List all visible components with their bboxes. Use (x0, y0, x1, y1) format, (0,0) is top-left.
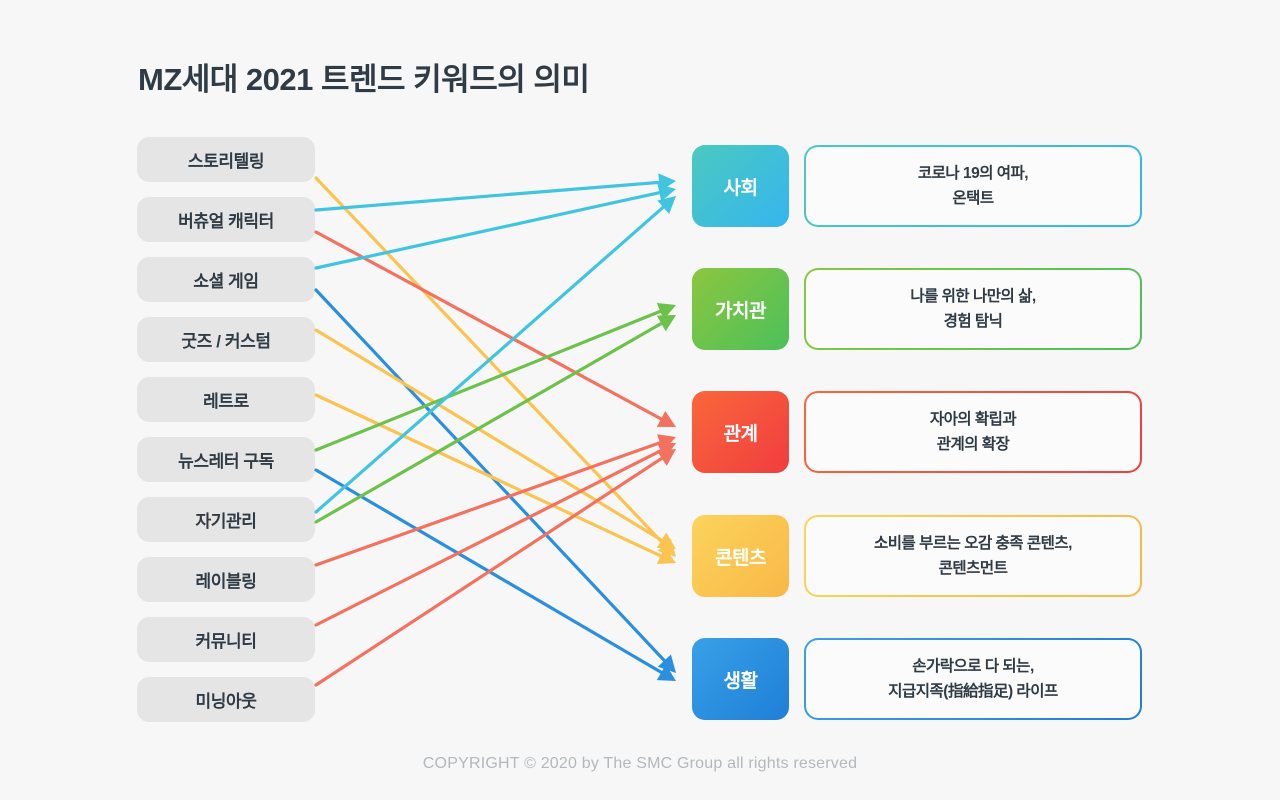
category-description-box: 자아의 확립과관계의 확장 (804, 391, 1142, 473)
keyword-label: 소셜 게임 (193, 267, 258, 292)
category-description-inner: 소비를 부르는 오감 충족 콘텐츠,콘텐츠먼트 (806, 517, 1140, 595)
keyword-label: 뉴스레터 구독 (178, 447, 274, 472)
infographic-canvas: MZ세대 2021 트렌드 키워드의 의미 스토리텔링버츄얼 캐릭터소셜 게임굿… (0, 0, 1280, 800)
keyword-pill[interactable]: 자기관리 (137, 497, 315, 542)
connector-line (316, 232, 661, 419)
connector-arrowhead (658, 173, 676, 191)
category-description-box: 소비를 부르는 오감 충족 콘텐츠,콘텐츠먼트 (804, 515, 1142, 597)
category-chip-label: 생활 (724, 666, 758, 693)
category-description-line: 손가락으로 다 되는, (912, 654, 1034, 679)
category-chip[interactable]: 가치관 (692, 268, 789, 350)
keyword-pill[interactable]: 레이블링 (137, 557, 315, 602)
category-description-line: 코로나 19의 여파, (918, 161, 1028, 186)
connector-line (316, 395, 661, 556)
connector-line (316, 323, 661, 522)
keyword-pill[interactable]: 스토리텔링 (137, 137, 315, 182)
category-description-line: 지급지족(指給指足) 라이프 (888, 679, 1057, 704)
connector-arrowhead (657, 665, 676, 681)
connector-arrowhead (657, 434, 676, 451)
category-chip-label: 가치관 (715, 296, 766, 323)
keyword-pill[interactable]: 레트로 (137, 377, 315, 422)
keyword-label: 굿즈 / 커스텀 (181, 327, 270, 352)
connector-arrowhead (657, 443, 676, 459)
connector-arrowhead (658, 538, 676, 557)
category-description-box: 손가락으로 다 되는,지급지족(指給指足) 라이프 (804, 638, 1142, 720)
keyword-label: 커뮤니티 (196, 627, 257, 652)
category-chip-label: 사회 (724, 173, 758, 200)
keyword-label: 버츄얼 캐릭터 (178, 207, 274, 232)
connector-line (316, 193, 659, 268)
category-description-line: 관계의 확장 (937, 432, 1010, 457)
category-chip[interactable]: 사회 (692, 145, 789, 227)
category-chip[interactable]: 콘텐츠 (692, 515, 789, 597)
connector-arrowhead (657, 449, 676, 466)
category-description-line: 소비를 부르는 오감 충족 콘텐츠, (874, 531, 1072, 556)
connector-arrowhead (657, 303, 676, 320)
keyword-pill[interactable]: 커뮤니티 (137, 617, 315, 662)
connector-line (316, 290, 664, 661)
connector-line (316, 451, 661, 625)
connector-line (316, 207, 663, 512)
keyword-pill[interactable]: 소셜 게임 (137, 257, 315, 302)
connector-arrowhead (657, 196, 676, 214)
connector-line (316, 311, 660, 450)
keyword-label: 미닝아웃 (196, 687, 257, 712)
keyword-pill[interactable]: 굿즈 / 커스텀 (137, 317, 315, 362)
connector-arrowhead (657, 184, 676, 202)
copyright-footer: COPYRIGHT © 2020 by The SMC Group all ri… (0, 755, 1280, 773)
category-chip[interactable]: 생활 (692, 638, 789, 720)
category-description-box: 나를 위한 나만의 삶,경험 탐닉 (804, 268, 1142, 350)
category-description-inner: 손가락으로 다 되는,지급지족(指給指足) 라이프 (806, 640, 1140, 718)
category-description-line: 나를 위한 나만의 삶, (910, 284, 1035, 309)
connector-arrowhead (657, 315, 676, 331)
connector-line (316, 443, 660, 565)
keyword-label: 레이블링 (196, 567, 257, 592)
category-description-line: 경험 탐닉 (944, 309, 1003, 334)
category-chip-label: 관계 (724, 419, 758, 446)
connector-line (316, 458, 662, 685)
category-description-box: 코로나 19의 여파,온택트 (804, 145, 1142, 227)
keyword-pill[interactable]: 뉴스레터 구독 (137, 437, 315, 482)
keyword-label: 자기관리 (196, 507, 257, 532)
category-description-line: 자아의 확립과 (930, 407, 1016, 432)
connector-arrowhead (657, 532, 676, 549)
category-chip[interactable]: 관계 (692, 391, 789, 473)
connector-line (316, 178, 664, 545)
connector-line (316, 330, 661, 540)
category-description-inner: 나를 위한 나만의 삶,경험 탐닉 (806, 270, 1140, 348)
category-chip-label: 콘텐츠 (715, 543, 766, 570)
page-title: MZ세대 2021 트렌드 키워드의 의미 (138, 54, 589, 99)
category-description-inner: 자아의 확립과관계의 확장 (806, 393, 1140, 471)
category-description-inner: 코로나 19의 여파,온택트 (806, 147, 1140, 225)
category-description-line: 콘텐츠먼트 (939, 556, 1008, 581)
connector-arrowhead (657, 411, 676, 427)
keyword-pill[interactable]: 버츄얼 캐릭터 (137, 197, 315, 242)
keyword-label: 스토리텔링 (188, 147, 264, 172)
connector-line (316, 182, 659, 210)
category-description-line: 온택트 (952, 186, 993, 211)
keyword-pill[interactable]: 미닝아웃 (137, 677, 315, 722)
connector-arrowhead (657, 548, 676, 564)
connector-arrowhead (658, 654, 676, 673)
connector-line (316, 470, 661, 672)
keyword-label: 레트로 (203, 387, 249, 412)
